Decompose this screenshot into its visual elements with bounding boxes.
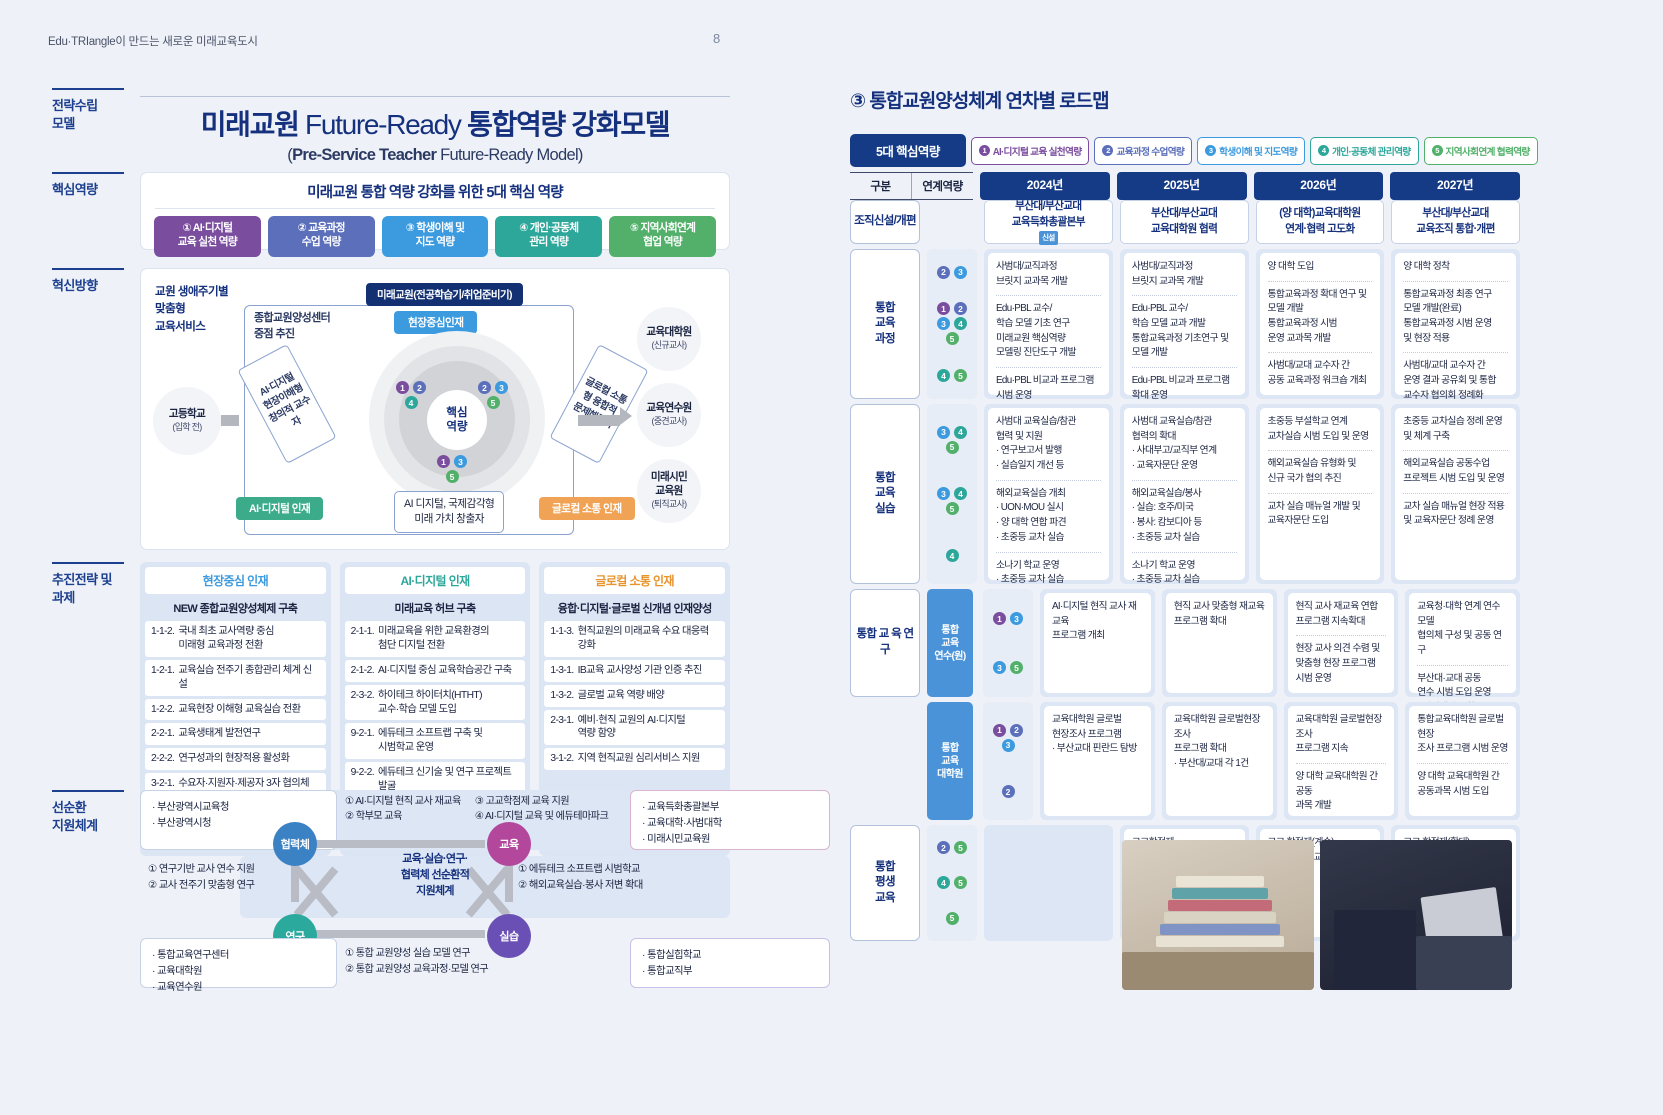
roadmap-card: 교육청·대학 연계 연수 모델 협의체 구성 및 공동 연구부산대·교대 공동 … — [1409, 593, 1516, 693]
vc-list-item: ② 교사 전주기 맞춤형 연구 — [148, 878, 254, 894]
strategy-item[interactable]: 2-2-1.교육생태계 발전연구 — [145, 723, 326, 745]
vc-list-item: ② 통합 교원양성 교육과정·모델 연구 — [345, 962, 488, 978]
side-label-strategy-model: 전략수립 모델 — [52, 88, 124, 132]
vc-list-item: ① 에듀테크 소프트랩 시범학교 — [518, 862, 643, 878]
strategy-item-text: 하이테크 하이터치(HTHT) 교수·학습 모델 도입 — [378, 689, 519, 717]
roadmap-row-label — [850, 702, 920, 820]
roadmap-card-group: Edu·PBL 비교과 프로그램 확대 운영 — [1132, 367, 1237, 403]
strategy-item[interactable]: 1-2-2.교육현장 이해형 교육실습 전환 — [145, 699, 326, 721]
capability-group: 123 — [988, 724, 1028, 752]
capability-group: 45 — [932, 369, 972, 382]
roadmap-card-group: 교차 실습 매뉴얼 개발 및 교육자문단 도입 — [1268, 493, 1373, 529]
legend-label: 학생이해 및 지도역량 — [1219, 144, 1297, 158]
capability-badge-4: 4 — [954, 317, 967, 330]
capability-group: 5 — [932, 912, 972, 925]
roadmap-cell[interactable]: (양 대학)교육대학원 연계·협력 고도화 — [1256, 200, 1385, 244]
strategy-item-text: 에듀테크 소프트랩 구축 및 시범학교 운영 — [378, 727, 519, 755]
status-badge: 신설 — [1039, 231, 1058, 244]
number-cluster-bottom: 135 — [435, 455, 469, 483]
strategy-item-code: 1-3-1. — [550, 664, 573, 678]
box-bottom-center: ① 통합 교원양성 실습 모델 연구② 통합 교원양성 교육과정·모델 연구 — [345, 946, 488, 979]
capability-badge-4: 4 — [937, 876, 950, 889]
capability-group: 345 — [932, 426, 972, 454]
vc-list-item: ① 연구기반 교사 연수 지원 — [148, 862, 254, 878]
strategy-item-code: 1-2-2. — [151, 703, 174, 717]
box-mid-right: ① 에듀테크 소프트랩 시범학교② 해외교육실습·봉사 저변 확대 — [518, 862, 643, 895]
capability-group: 13 — [988, 612, 1028, 625]
capability-badge-5: 5 — [946, 502, 959, 515]
roadmap-card: (양 대학)교육대학원 연계·협력 고도화 — [1256, 200, 1385, 244]
diagram-center-note: 종합교원양성센터 중점 추진 — [254, 311, 330, 343]
roadmap-row-label: 통합 교육 과정 — [850, 249, 920, 399]
roadmap-cell[interactable]: 현직 교사 재교육 연합 프로그램 지속확대현장 교사 의견 수렴 및 맞춤형 … — [1284, 589, 1399, 697]
roadmap-card: 현직 교사 재교육 연합 프로그램 지속확대현장 교사 의견 수렴 및 맞춤형 … — [1288, 593, 1395, 693]
legend-label: 교육과정 수업역량 — [1116, 144, 1184, 158]
photo-tablet-user — [1320, 840, 1512, 990]
legend-main-label: 5대 핵심역량 — [850, 134, 966, 167]
legend-dot-5: 5 — [1432, 145, 1443, 156]
roadmap-card: 통합교육대학원 글로벌현장 조사 프로그램 시범 운영양 대학 교육대학원 간 … — [1409, 706, 1516, 816]
competency-number-1: 1 — [437, 455, 450, 468]
linkage-capability-cell: 231234545 — [927, 249, 977, 399]
roadmap-cell[interactable]: 양 대학 도입통합교육과정 확대 연구 및 모델 개발 통합교육과정 시범 운영… — [1256, 249, 1385, 399]
strategy-column-subtitle: NEW 종합교원양성체제 구축 — [145, 594, 326, 621]
roadmap-card-group: Edu·PBL 비교과 프로그램 시범 운영 — [996, 367, 1101, 403]
vc-list-item: · 미래시민교육원 — [642, 832, 818, 848]
vc-list-item: ④ AI·디지털 교육 및 에듀테마파크 — [475, 809, 608, 824]
strategy-item-code: 2-1-1. — [351, 625, 374, 653]
future-ready-diagram: 교원 생애주기별 맞춤형 교육서비스 종합교원양성센터 중점 추진 미래교원(전… — [140, 268, 730, 550]
strategy-item-text: IB교육 교사양성 기관 인증 추진 — [578, 664, 719, 678]
core-competency-panel: 미래교원 통합 역량 강화를 위한 5대 핵심 역량 ① AI·디지털 교육 실… — [140, 172, 730, 250]
legend-dot-4: 4 — [1318, 145, 1329, 156]
roadmap-card-group: 양 대학 교육대학원 간 공동 과목 개발 — [1296, 763, 1387, 814]
roadmap-card-group: 현직 교사 재교육 연합 프로그램 지속확대 — [1296, 600, 1387, 629]
roadmap-cell[interactable]: 교육대학원 글로벌 현장조사 프로그램 · 부산교대 핀란드 탐방 — [1040, 702, 1155, 820]
strategy-item-code: 2-1-2. — [351, 664, 374, 678]
capability-group: 4 — [932, 549, 972, 562]
capability-group: 25 — [932, 841, 972, 854]
roadmap-cell[interactable]: 사범대 교육실습/참관 협력의 확대 · 사대부고/교직부 연계 · 교육자문단… — [1120, 404, 1249, 584]
capability-group: 2 — [988, 785, 1028, 798]
vc-list-item: · 교육연수원 — [152, 980, 325, 996]
roadmap-card-group: 초중등 부설학교 연계 교차실습 시범 도입 및 운영 — [1268, 415, 1373, 444]
roadmap-card: 교육대학원 글로벌 현장조사 프로그램 · 부산교대 핀란드 탐방 — [1044, 706, 1151, 816]
capability-group: 35 — [988, 661, 1028, 674]
roadmap-cell[interactable]: 사범대/교직과정 브릿지 교과목 개발Edu·PBL 교수/ 학습 모델 기초 … — [984, 249, 1113, 399]
roadmap-row-subtag: 통합 교육 대학원 — [927, 702, 973, 820]
capability-badge-5: 5 — [946, 332, 959, 345]
linkage-capability-cell: 1232 — [983, 702, 1033, 820]
roadmap-card: 사범대/교직과정 브릿지 교과목 개발Edu·PBL 교수/ 학습 모델 교과 … — [1124, 253, 1245, 395]
roadmap-card: 양 대학 도입통합교육과정 확대 연구 및 모델 개발 통합교육과정 시범 운영… — [1260, 253, 1381, 395]
strategy-item-text: 글로벌 교육 역량 배양 — [578, 689, 719, 703]
roadmap-row-label: 통합 교 육 연 구 — [850, 589, 920, 697]
virtuous-cycle-center-label: 교육·실습·연구· 협력체 선순환적 지원체계 — [377, 852, 493, 900]
roadmap-card-group: 사범대/교직과정 브릿지 교과목 개발 — [996, 260, 1101, 289]
roadmap-card-group: 교차 실습 매뉴얼 현장 적용 및 교육자문단 정례 운영 — [1403, 493, 1508, 529]
roadmap-card-group: 교육대학원 글로벌현장조사 프로그램 확대 · 부산대/교대 각 1건 — [1174, 713, 1265, 772]
box-top-center: ① AI·디지털 현직 교사 재교육② 학부모 교육 ③ 고교학점제 교육 지원… — [345, 794, 615, 825]
capability-badge-2: 2 — [937, 266, 950, 279]
roadmap-card: 초중등 부설학교 연계 교차실습 시범 도입 및 운영해외교육실습 유형화 및 … — [1260, 408, 1381, 580]
strategy-column-header: 현장중심 인재 — [145, 567, 326, 594]
competency-number-4: 4 — [405, 396, 418, 409]
strategy-item-text: 교육현장 이해형 교육실습 전환 — [178, 703, 319, 717]
pill-glocal-talent: 글로컬 소통 인재 — [539, 497, 635, 520]
roadmap-card-group: 교육대학원 글로벌현장조사 프로그램 지속 — [1296, 713, 1387, 757]
competency-number-2: 2 — [478, 381, 491, 394]
roadmap-cell[interactable]: 사범대/교직과정 브릿지 교과목 개발Edu·PBL 교수/ 학습 모델 교과 … — [1120, 249, 1249, 399]
node-collaboration: 협력체 — [273, 822, 317, 866]
roadmap-card-group: 사범대 교육실습/참관 협력 및 지원 · 연구보고서 발행 · 실습일지 개선… — [996, 415, 1101, 474]
roadmap-card: 부산대/부산교대 교육조직 통합·개편 — [1391, 200, 1520, 244]
roadmap-card-group: Edu·PBL 교수/ 학습 모델 교과 개발 통합교육과정 기초연구 및 모델… — [1132, 295, 1237, 361]
strategy-item-code: 1-1-2. — [151, 625, 174, 653]
roadmap-card-group: 양 대학 정착 — [1403, 260, 1508, 275]
header-linkage: 연계역량 — [912, 173, 973, 199]
roadmap-card-group: Edu·PBL 교수/ 학습 모델 기초 연구 미래교원 핵심역량 모델링 진단… — [996, 295, 1101, 361]
strategy-item[interactable]: 1-2-1.교육실습 전주기 종합관리 체계 신설 — [145, 660, 326, 696]
legend-chip-4[interactable]: 4개인·공동체 관리역량 — [1310, 137, 1418, 165]
roadmap-card-group: 사범대/교대 교수자 간 공동 교육과정 워크숍 개최 — [1268, 352, 1373, 388]
box-top-right: · 교육득화총괄본부· 교육대학·사범대학· 미래시민교육원 — [630, 790, 830, 850]
capability-badge-5: 5 — [954, 876, 967, 889]
vc-list-item: ③ 고교학점제 교육 지원 — [475, 794, 608, 809]
page-subtitle: (Pre-Service Teacher Future-Ready Model) — [140, 146, 730, 165]
strategy-column-subtitle: 융합·디지털·글로벌 신개념 인재양성 — [544, 594, 725, 621]
core-competency-chip-row: ① AI·디지털 교육 실천 역량② 교육과정 수업 역량③ 학생이해 및 지도… — [141, 209, 729, 257]
linkage-capability-cell: 3453454 — [927, 404, 977, 584]
roadmap-cell[interactable]: 부산대/부산교대 교육득화총괄본부 신설 — [984, 200, 1113, 244]
strategy-item[interactable]: 2-2-2.연구성과의 현장적용 활성화 — [145, 748, 326, 770]
legend-chip-5[interactable]: 5지역사회연계 협력역량 — [1424, 137, 1538, 165]
roadmap-row-subtag: 통합 교육 연수(원) — [927, 589, 973, 697]
legend-label: 개인·공동체 관리역량 — [1332, 144, 1410, 158]
strategy-item-code: 2-2-1. — [151, 727, 174, 741]
roadmap-card-group: 교육청·대학 연계 연수 모델 협의체 구성 및 공동 연구 — [1417, 600, 1508, 659]
roadmap-cell[interactable]: 교육대학원 글로벌현장조사 프로그램 확대 · 부산대/교대 각 1건 — [1162, 702, 1277, 820]
roadmap-card-group: 교육대학원 글로벌 현장조사 프로그램 · 부산교대 핀란드 탐방 — [1052, 713, 1143, 757]
running-head: Edu·TRIangle이 만드는 새로운 미래교육도시 — [48, 33, 258, 49]
strategy-item[interactable]: 2-1-1.미래교육을 위한 교육환경의 첨단 디지털 전환 — [345, 621, 526, 657]
legend-dot-1: 1 — [979, 145, 990, 156]
core-competency-heading: 미래교원 통합 역량 강화를 위한 5대 핵심 역량 — [141, 173, 729, 202]
core-competency-chip-4[interactable]: ④ 개인·공동체 관리 역량 — [495, 216, 602, 257]
node-practicum: 실습 — [487, 914, 531, 958]
arrow-in — [221, 415, 239, 426]
circle-future-citizen-institute: 미래시민 교육원 (퇴직교사) — [637, 459, 701, 523]
competency-number-3: 3 — [454, 455, 467, 468]
strategy-column-header: 글로컬 소통 인재 — [544, 567, 725, 594]
year-header-2025년: 2025년 — [1117, 172, 1247, 200]
strategy-item-code: 2-3-1. — [550, 714, 573, 742]
roadmap-header-left: 구분 연계역량 — [850, 172, 973, 200]
capability-group: 345 — [932, 487, 972, 515]
capability-badge-5: 5 — [1010, 661, 1023, 674]
strategy-item-text: 현직교원의 미래교육 수요 대응력 강화 — [578, 625, 719, 653]
strategy-item-text: 교육실습 전주기 종합관리 체계 신설 — [178, 664, 319, 692]
roadmap-card: AI·디지털 현직 교사 재교육 프로그램 개최 — [1044, 593, 1151, 693]
legend-dot-3: 3 — [1205, 145, 1216, 156]
roadmap-card-group: 소나기 학교 운영 · 초중등 교차 실습 — [1132, 552, 1237, 588]
strategy-item-code: 1-3-2. — [550, 689, 573, 703]
capability-badge-5: 5 — [946, 441, 959, 454]
core-competency-chip-3[interactable]: ③ 학생이해 및 지도 역량 — [382, 216, 489, 257]
roadmap-grid: 조직신설/개편부산대/부산교대 교육득화총괄본부 신설부산대/부산교대 교육대학… — [850, 200, 1520, 946]
strategy-item-code: 3-1-2. — [550, 752, 573, 766]
roadmap-card-group: 소나기 학교 운영 · 초중등 교차 실습 — [996, 552, 1101, 588]
roadmap-cell[interactable]: 현직 교사 맞춤형 재교육 프로그램 확대 — [1162, 589, 1277, 697]
roadmap-cell[interactable]: 교육대학원 글로벌현장조사 프로그램 지속양 대학 교육대학원 간 공동 과목 … — [1284, 702, 1399, 820]
capability-group: 12345 — [932, 302, 972, 345]
roadmap-cell[interactable]: 부산대/부산교대 교육대학원 협력 — [1120, 200, 1249, 244]
roadmap-card-group: 사범대 교육실습/참관 협력의 확대 · 사대부고/교직부 연계 · 교육자문단… — [1132, 415, 1237, 474]
capability-badge-1: 1 — [993, 724, 1006, 737]
strategy-item[interactable]: 3-1-2.지역 현직교원 심리서비스 지원 — [544, 748, 725, 770]
roadmap-card-group: 사범대/교대 교수자 간 운영 결과 공유회 및 통합 교수자 협의회 정례화 — [1403, 352, 1508, 403]
capability-badge-5: 5 — [946, 912, 959, 925]
roadmap-cell[interactable]: 부산대/부산교대 교육조직 통합·개편 — [1391, 200, 1520, 244]
roadmap-card-group: 현장 교사 의견 수렴 및 맞춤형 현장 프로그램 시범 운영 — [1296, 635, 1387, 686]
strategy-item-text: 미래교육을 위한 교육환경의 첨단 디지털 전환 — [378, 625, 519, 653]
year-header-2024년: 2024년 — [980, 172, 1110, 200]
strategy-item-code: 1-2-1. — [151, 664, 174, 692]
roadmap-card: 현직 교사 맞춤형 재교육 프로그램 확대 — [1166, 593, 1273, 693]
roadmap-cell[interactable]: 통합교육대학원 글로벌현장 조사 프로그램 시범 운영양 대학 교육대학원 간 … — [1405, 702, 1520, 820]
roadmap-cell[interactable]: 초중등 교차실습 정례 운영 및 체계 구축해외교육실습 공동수업 프로젝트 시… — [1391, 404, 1520, 584]
roadmap-card — [988, 829, 1109, 937]
strategy-item-text: 지역 현직교원 심리서비스 지원 — [578, 752, 719, 766]
legend-label: AI·디지털 교육 실천역량 — [993, 144, 1082, 158]
node-education: 교육 — [487, 822, 531, 866]
roadmap-cell[interactable]: 사범대 교육실습/참관 협력 및 지원 · 연구보고서 발행 · 실습일지 개선… — [984, 404, 1113, 584]
capability-group: 45 — [932, 876, 972, 889]
competency-number-5: 5 — [446, 470, 459, 483]
roadmap-cell[interactable] — [984, 825, 1113, 941]
virtuous-cycle-diagram: · 부산광역시교육청· 부산광역시청 ① AI·디지털 현직 교사 재교육② 학… — [140, 790, 730, 980]
core-competency-chip-5[interactable]: ⑤ 지역사회연계 협업 역량 — [609, 216, 716, 257]
competency-number-1: 1 — [396, 381, 409, 394]
strategy-item-text: AI·디지털 중심 교육학습공간 구축 — [378, 664, 519, 678]
roadmap-legend: 5대 핵심역량 1AI·디지털 교육 실천역량2교육과정 수업역량3학생이해 및… — [850, 134, 1538, 167]
strategy-item-text: 교육생태계 발전연구 — [178, 727, 319, 741]
strategy-item[interactable]: 2-1-2.AI·디지털 중심 교육학습공간 구축 — [345, 660, 526, 682]
side-label-strategy-tasks: 추진전략 및 과제 — [52, 562, 124, 606]
vc-list-item: · 교육대학·사범대학 — [642, 816, 818, 832]
photo-books — [1122, 840, 1314, 990]
capability-group: 23 — [932, 266, 972, 279]
capability-badge-2: 2 — [1002, 785, 1015, 798]
capability-badge-3: 3 — [1002, 739, 1015, 752]
capability-badge-4: 4 — [946, 549, 959, 562]
box-mid-left: ① 연구기반 교사 연수 지원② 교사 전주기 맞춤형 연구 — [148, 862, 254, 895]
roadmap-title: ③ 통합교원양성체계 연차별 로드맵 — [850, 86, 1109, 113]
roadmap-card-group: 해외교육실습 공동수업 프로젝트 시범 도입 및 운영 — [1403, 450, 1508, 486]
pill-future-teacher: 미래교원(전공학습기/취업준비기) — [366, 283, 523, 306]
side-label-virtuous-cycle: 선순환 지원체계 — [52, 790, 124, 834]
roadmap-card: 양 대학 정착통합교육과정 최종 연구 모델 개발(완료) 통합교육과정 시범 … — [1395, 253, 1516, 395]
roadmap-row-4: 통합 교 육 연 구통합 교육 연수(원)1335AI·디지털 현직 교사 재교… — [850, 589, 1520, 697]
strategy-column-subtitle: 미래교육 허브 구축 — [345, 594, 526, 621]
roadmap-card: 초중등 교차실습 정례 운영 및 체계 구축해외교육실습 공동수업 프로젝트 시… — [1395, 408, 1516, 580]
strategy-item-code: 9-2-1. — [351, 727, 374, 755]
strategy-item-text: 국내 최초 교사역량 중심 미래형 교육과정 전환 — [178, 625, 319, 653]
number-cluster-top-right: 235 — [476, 381, 510, 409]
roadmap-card-group: AI·디지털 현직 교사 재교육 프로그램 개최 — [1052, 600, 1143, 644]
side-label-core-competency: 핵심역량 — [52, 172, 124, 199]
box-bottom-right: · 통합실힙학교· 통합교직부 — [630, 938, 830, 988]
roadmap-card-group: 해외교육실습 개최 · UON·MOU 실시 · 양 대학 연합 파견 · 초중… — [996, 480, 1101, 546]
roadmap-card-group: 초중등 교차실습 정례 운영 및 체계 구축 — [1403, 415, 1508, 444]
strategy-item[interactable]: 2-3-1.예비·현직 교원의 AI·디지털 역량 함양 — [544, 710, 725, 746]
roadmap-row-label: 통합 평생 교육 — [850, 825, 920, 941]
legend-label: 지역사회연계 협력역량 — [1446, 144, 1530, 158]
arrow-out — [578, 415, 620, 426]
roadmap-card-group: 통합교육과정 확대 연구 및 모델 개발 통합교육과정 시범 운영 교과목 개발 — [1268, 281, 1373, 347]
side-label-innovation: 혁신방향 — [52, 268, 124, 295]
capability-badge-3: 3 — [937, 317, 950, 330]
roadmap-cell[interactable]: 양 대학 정착통합교육과정 최종 연구 모델 개발(완료) 통합교육과정 시범 … — [1391, 249, 1520, 399]
vc-list-item: · 통합교직부 — [642, 964, 818, 980]
capability-badge-4: 4 — [954, 487, 967, 500]
roadmap-card: 부산대/부산교대 교육득화총괄본부 신설 — [984, 200, 1113, 244]
roadmap-card: 교육대학원 글로벌현장조사 프로그램 확대 · 부산대/교대 각 1건 — [1166, 706, 1273, 816]
circle-graduate-school: 교육대학원 (신규교사) — [637, 307, 701, 371]
roadmap-card-group: 해외교육실습/봉사 · 실습: 호주/미국 · 봉사: 캄보디아 등 · 초중등… — [1132, 480, 1237, 546]
vc-list-item: · 통합교육연구센터 — [152, 948, 325, 964]
linkage-capability-cell: 1335 — [983, 589, 1033, 697]
strategy-item-code: 1-1-3. — [550, 625, 573, 653]
capability-badge-5: 5 — [954, 369, 967, 382]
roadmap-cell[interactable]: 초중등 부설학교 연계 교차실습 시범 도입 및 운영해외교육실습 유형화 및 … — [1256, 404, 1385, 584]
strategy-item[interactable]: 1-1-3.현직교원의 미래교육 수요 대응력 강화 — [544, 621, 725, 657]
diagram-lead-text: 교원 생애주기별 맞춤형 교육서비스 — [155, 283, 228, 335]
box-future-value-creator: AI 디지털, 국제감각형 미래 가치 창출자 — [394, 491, 504, 533]
page-number-left: 8 — [713, 31, 720, 46]
roadmap-row-5: 통합 교육 대학원1232교육대학원 글로벌 현장조사 프로그램 · 부산교대 … — [850, 702, 1520, 820]
capability-badge-3: 3 — [937, 487, 950, 500]
roadmap-card: 부산대/부산교대 교육대학원 협력 — [1120, 200, 1249, 244]
roadmap-card: 사범대 교육실습/참관 협력의 확대 · 사대부고/교직부 연계 · 교육자문단… — [1124, 408, 1245, 580]
roadmap-card: 사범대 교육실습/참관 협력 및 지원 · 연구보고서 발행 · 실습일지 개선… — [988, 408, 1109, 580]
strategy-item-code: 2-2-2. — [151, 752, 174, 766]
capability-badge-4: 4 — [954, 426, 967, 439]
page-title-block: 미래교원 Future-Ready 통합역량 강화모델 (Pre-Service… — [140, 96, 730, 165]
roadmap-cell[interactable]: AI·디지털 현직 교사 재교육 프로그램 개최 — [1040, 589, 1155, 697]
core-competency-chip-2[interactable]: ② 교육과정 수업 역량 — [268, 216, 375, 257]
strategy-item[interactable]: 1-3-1.IB교육 교사양성 기관 인증 추진 — [544, 660, 725, 682]
roadmap-header-row: 구분 연계역량 2024년2025년2026년2027년 — [850, 172, 1520, 200]
page-title: 미래교원 Future-Ready 통합역량 강화모델 — [140, 109, 730, 141]
competency-number-3: 3 — [495, 381, 508, 394]
strategy-item-text: 연구성과의 현장적용 활성화 — [178, 752, 319, 766]
strategy-item[interactable]: 1-3-2.글로벌 교육 역량 배양 — [544, 685, 725, 707]
box-bottom-left: · 통합교육연구센터· 교육대학원· 교육연수원 — [140, 938, 337, 988]
legend-chip-2[interactable]: 2교육과정 수업역량 — [1094, 137, 1192, 165]
arrow-top-horizontal — [315, 840, 485, 848]
roadmap-card: 사범대/교직과정 브릿지 교과목 개발Edu·PBL 교수/ 학습 모델 기초 … — [988, 253, 1109, 395]
strategy-item[interactable]: 9-2-1.에듀테크 소프트랩 구축 및 시범학교 운영 — [345, 723, 526, 759]
vc-list-item: ② 해외교육실습·봉사 저변 확대 — [518, 878, 643, 894]
arrow-bottom-horizontal — [315, 930, 485, 938]
pill-ai-digital-talent: AI·디지털 인재 — [236, 497, 323, 520]
capability-badge-2: 2 — [1010, 724, 1023, 737]
left-page: Edu·TRIangle이 만드는 새로운 미래교육도시 8 전략수립 모델 핵… — [0, 0, 832, 1115]
capability-badge-3: 3 — [954, 266, 967, 279]
competency-number-2: 2 — [413, 381, 426, 394]
capability-badge-3: 3 — [993, 661, 1006, 674]
capability-badge-3: 3 — [937, 426, 950, 439]
roadmap-card-group: 양 대학 도입 — [1268, 260, 1373, 275]
core-competency-chip-1[interactable]: ① AI·디지털 교육 실천 역량 — [154, 216, 261, 257]
vc-list-item: · 교육득화총괄본부 — [642, 800, 818, 816]
vc-list-item: · 교육대학원 — [152, 964, 325, 980]
circle-highschool: 고등학교 (입학 전) — [153, 387, 221, 455]
roadmap-card-group: 해외교육실습 유형화 및 신규 국가 협의 추진 — [1268, 450, 1373, 486]
year-header-2026년: 2026년 — [1254, 172, 1384, 200]
capability-badge-2: 2 — [937, 841, 950, 854]
circle-training-institute: 교육연수원 (중견교사) — [637, 383, 701, 447]
number-cluster-top-left: 124 — [394, 381, 428, 409]
capability-badge-1: 1 — [993, 612, 1006, 625]
legend-chip-1[interactable]: 1AI·디지털 교육 실천역량 — [971, 137, 1090, 165]
year-header-2027년: 2027년 — [1390, 172, 1520, 200]
capability-badge-3: 3 — [1010, 612, 1023, 625]
roadmap-year-headers: 2024년2025년2026년2027년 — [980, 172, 1520, 200]
arrow-out-head — [620, 407, 632, 425]
vc-list-item: · 부산광역시교육청 — [152, 800, 325, 816]
strategy-item[interactable]: 2-3-2.하이테크 하이터치(HTHT) 교수·학습 모델 도입 — [345, 685, 526, 721]
strategy-item-code: 2-3-2. — [351, 689, 374, 717]
roadmap-card: 교육대학원 글로벌현장조사 프로그램 지속양 대학 교육대학원 간 공동 과목 … — [1288, 706, 1395, 816]
roadmap-card-group: 현직 교사 맞춤형 재교육 프로그램 확대 — [1174, 600, 1265, 629]
vc-list-item: · 통합실힙학교 — [642, 948, 818, 964]
roadmap-row-label: 조직신설/개편 — [850, 200, 920, 244]
capability-badge-4: 4 — [937, 369, 950, 382]
roadmap-row-3: 통합 교육 실습3453454사범대 교육실습/참관 협력 및 지원 · 연구보… — [850, 404, 1520, 584]
linkage-capability-cell: 25455 — [927, 825, 977, 941]
spacer — [927, 200, 977, 244]
roadmap-card-group: 양 대학 교육대학원 간 공동과목 시범 도입 — [1417, 763, 1508, 799]
roadmap-card-group: 통합교육과정 최종 연구 모델 개발(완료) 통합교육과정 시범 운영 및 현장… — [1403, 281, 1508, 347]
competency-number-5: 5 — [487, 396, 500, 409]
capability-badge-1: 1 — [937, 302, 950, 315]
roadmap-row-label: 통합 교육 실습 — [850, 404, 920, 584]
legend-chip-3[interactable]: 3학생이해 및 지도역량 — [1197, 137, 1305, 165]
roadmap-row-1: 조직신설/개편부산대/부산교대 교육득화총괄본부 신설부산대/부산교대 교육대학… — [850, 200, 1520, 244]
legend-dot-2: 2 — [1102, 145, 1113, 156]
roadmap-row-2: 통합 교육 과정231234545사범대/교직과정 브릿지 교과목 개발Edu·… — [850, 249, 1520, 399]
roadmap-card-group: 사범대/교직과정 브릿지 교과목 개발 — [1132, 260, 1237, 289]
vc-list-item: ② 학부모 교육 — [345, 809, 461, 824]
roadmap-cell[interactable]: 교육청·대학 연계 연수 모델 협의체 구성 및 공동 연구부산대·교대 공동 … — [1405, 589, 1520, 697]
strategy-item[interactable]: 1-1-2.국내 최초 교사역량 중심 미래형 교육과정 전환 — [145, 621, 326, 657]
strategy-column-header: AI·디지털 인재 — [345, 567, 526, 594]
header-category: 구분 — [850, 173, 912, 199]
vc-list-item: ① 통합 교원양성 실습 모델 연구 — [345, 946, 488, 962]
roadmap-card-group: 통합교육대학원 글로벌현장 조사 프로그램 시범 운영 — [1417, 713, 1508, 757]
strategy-item-text: 예비·현직 교원의 AI·디지털 역량 함양 — [578, 714, 719, 742]
capability-badge-5: 5 — [954, 841, 967, 854]
capability-badge-2: 2 — [954, 302, 967, 315]
vc-list-item: ① AI·디지털 현직 교사 재교육 — [345, 794, 461, 809]
